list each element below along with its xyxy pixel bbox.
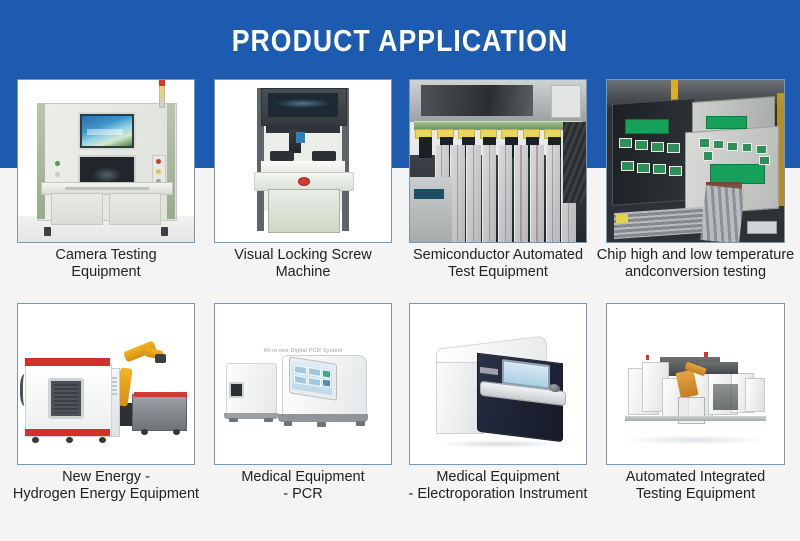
caption-line-1: Visual Locking Screw [234,247,372,263]
product-image-automated-integrated-testing-equipment[interactable] [606,303,785,465]
product-card-medical-equipment-electroporation[interactable]: Medical Equipment - Electroporation Inst… [409,303,587,465]
caption-line-2: Testing Equipment [636,486,755,502]
product-image-chip-temperature-testing[interactable] [606,79,785,243]
product-card-visual-locking-screw-machine[interactable]: Visual Locking Screw Machine [214,79,392,243]
caption-line-1: Semiconductor Automated [413,247,583,263]
electroporation-instrument-illustration [410,304,586,464]
product-caption-medical-equipment-electroporation: Medical Equipment - Electroporation Inst… [397,469,599,503]
product-caption-chip-temperature-testing: Chip high and low temperature andconvers… [594,247,797,281]
caption-line-1: Camera Testing [55,247,156,263]
caption-line-1: New Energy - [62,469,150,485]
product-card-medical-equipment-pcr[interactable]: All-in-one Digital PCR System [214,303,392,465]
caption-line-2: Machine [276,264,331,280]
caption-line-2: Hydrogen Energy Equipment [13,486,199,502]
product-card-semiconductor-automated-test-equipment[interactable]: Semiconductor Automated Test Equipment [409,79,587,243]
product-image-medical-equipment-pcr[interactable]: All-in-one Digital PCR System [214,303,392,465]
product-image-semiconductor-automated-test-equipment[interactable] [409,79,587,243]
automated-production-line-illustration [607,304,784,464]
product-card-chip-temperature-testing[interactable]: Chip high and low temperature andconvers… [606,79,785,243]
caption-line-2: Test Equipment [448,264,548,280]
product-card-camera-testing-equipment[interactable]: Camera Testing Equipment [17,79,195,243]
product-caption-medical-equipment-pcr: Medical Equipment - PCR [202,469,404,503]
caption-line-2: andconversion testing [625,264,766,280]
caption-line-2: - PCR [283,486,322,502]
chip-temperature-test-trays-illustration [607,80,784,242]
product-image-visual-locking-screw-machine[interactable] [214,79,392,243]
hydrogen-test-chamber-robot-illustration [18,304,194,464]
caption-line-2: Equipment [71,264,140,280]
caption-line-1: Medical Equipment [436,469,559,485]
semiconductor-test-rack-illustration [410,80,586,242]
caption-line-1: Chip high and low temperature [597,247,794,263]
caption-line-1: Medical Equipment [241,469,364,485]
camera-testing-machine-illustration [18,80,194,242]
product-caption-semiconductor-automated-test-equipment: Semiconductor Automated Test Equipment [397,247,599,281]
screw-locking-machine-illustration [215,80,391,242]
pcr-system-illustration: All-in-one Digital PCR System [215,304,391,464]
product-image-hydrogen-energy-equipment[interactable] [17,303,195,465]
product-caption-camera-testing-equipment: Camera Testing Equipment [5,247,207,281]
product-card-hydrogen-energy-equipment[interactable]: New Energy - Hydrogen Energy Equipment [17,303,195,465]
page-title: PRODUCT APPLICATION [56,20,744,62]
product-caption-hydrogen-energy-equipment: New Energy - Hydrogen Energy Equipment [5,469,207,503]
product-image-medical-equipment-electroporation[interactable] [409,303,587,465]
caption-line-1: Automated Integrated [626,469,765,485]
product-card-grid: Camera Testing Equipment [0,0,800,541]
product-application-banner: PRODUCT APPLICATION [0,0,800,541]
product-card-automated-integrated-testing-equipment[interactable]: Automated Integrated Testing Equipment [606,303,785,465]
caption-line-2: - Electroporation Instrument [409,486,588,502]
product-image-camera-testing-equipment[interactable] [17,79,195,243]
product-caption-automated-integrated-testing-equipment: Automated Integrated Testing Equipment [594,469,797,503]
product-caption-visual-locking-screw-machine: Visual Locking Screw Machine [202,247,404,281]
